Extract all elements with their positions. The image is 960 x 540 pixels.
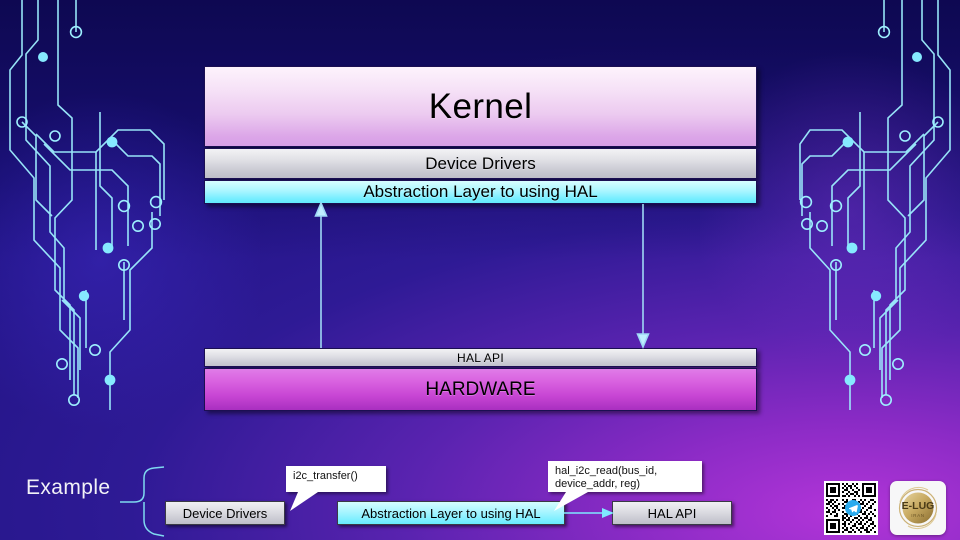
example-box-abstraction-layer[interactable]: Abstraction Layer to using HAL	[337, 501, 565, 525]
circuit-trace-decoration-right	[780, 0, 960, 420]
example-box-hal-api[interactable]: HAL API	[612, 501, 732, 525]
callout-i2c-transfer: i2c_transfer()	[286, 466, 386, 492]
telegram-glyph	[848, 503, 859, 514]
example-box-device-drivers[interactable]: Device Drivers	[165, 501, 285, 525]
callout-hal-i2c-read: hal_i2c_read(bus_id, device_addr, reg)	[548, 461, 702, 492]
example-box-label-device-drivers: Device Drivers	[183, 506, 268, 521]
elug-logo-text: E-LUG	[902, 500, 935, 512]
layer-label-hardware: HARDWARE	[425, 379, 535, 401]
layer-block-device-drivers: Device Drivers	[204, 148, 757, 179]
callout-text-hal-i2c-read-line1: hal_i2c_read(bus_id,	[555, 465, 695, 478]
callout-text-hal-i2c-read-line2: device_addr, reg)	[555, 478, 695, 491]
example-box-label-hal-api: HAL API	[648, 506, 697, 521]
elug-logo-subtext: IRAN	[911, 513, 924, 518]
layer-label-kernel: Kernel	[429, 87, 533, 127]
layer-block-hal-api: HAL API	[204, 348, 757, 367]
layer-label-device-drivers: Device Drivers	[425, 154, 536, 174]
telegram-icon	[845, 500, 861, 516]
circuit-trace-decoration-left	[0, 0, 200, 420]
layer-label-abstraction-layer: Abstraction Layer to using HAL	[363, 182, 597, 202]
layer-label-hal-api: HAL API	[457, 351, 504, 365]
layer-block-hardware: HARDWARE	[204, 368, 757, 411]
slide-canvas: Kernel Device Drivers Abstraction Layer …	[0, 0, 960, 540]
example-label: Example	[26, 476, 111, 500]
callout-text-i2c-transfer: i2c_transfer()	[293, 470, 358, 482]
layer-block-kernel: Kernel	[204, 66, 757, 147]
elug-logo[interactable]: E-LUG IRAN	[890, 481, 946, 535]
elug-logo-mark: E-LUG IRAN	[894, 485, 942, 531]
example-box-label-abstraction-layer: Abstraction Layer to using HAL	[361, 506, 540, 521]
layer-block-abstraction-layer: Abstraction Layer to using HAL	[204, 180, 757, 204]
